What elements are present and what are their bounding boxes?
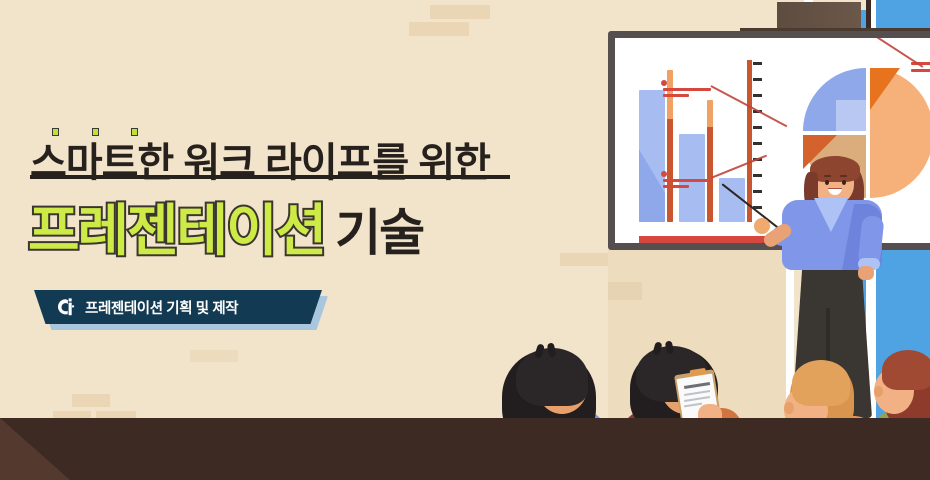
attendee-ear (874, 386, 883, 397)
headline-line-2: 프레젠테이션 기술 (28, 186, 423, 267)
presenter-brow-right (840, 175, 847, 177)
red-banner (639, 236, 779, 243)
callout-bar-top-2 (663, 94, 689, 97)
ruler-tick (753, 62, 762, 65)
ruler-tick (753, 142, 762, 145)
presenter-brow-left (824, 175, 831, 177)
callout-dot-top (661, 80, 667, 86)
callout-bar-bot-2 (663, 185, 689, 188)
floor-wedge (0, 418, 70, 480)
bar-1 (639, 90, 665, 222)
callout-line-right (874, 38, 924, 67)
pie-slice-blue-light (836, 100, 866, 131)
headline-tail: 기술 (335, 193, 423, 265)
ceiling-beam (777, 2, 861, 28)
attendee-hair-top (792, 360, 850, 406)
ruler-tick (753, 190, 762, 193)
bar-1-shade (639, 90, 665, 222)
badge-label: 프레젠테이션 기획 및 제작 (85, 297, 238, 318)
ruler-tick (753, 78, 762, 81)
presenter-eye-left (825, 180, 829, 185)
attendee-hair-top (882, 350, 930, 390)
headline-highlight: 프레젠테이션 (28, 186, 325, 267)
decor-rect-6 (190, 350, 238, 362)
bar-2 (679, 134, 705, 222)
decor-rect-3 (72, 394, 110, 407)
hero-banner: 스마트한 워크 라이프를 위한 프레젠테이션 기술 프레젠테이션 기획 및 제작 (0, 0, 930, 480)
callout-bar-bot-1 (663, 179, 711, 182)
wall-panel-shade (608, 282, 642, 300)
marker-bar-2 (707, 100, 713, 222)
ruler-tick (753, 174, 762, 177)
headline-underline (30, 175, 510, 179)
ceiling-pole (866, 0, 871, 30)
decor-rect-7 (560, 253, 612, 266)
callout-bar-right-2 (911, 69, 930, 72)
decor-rect-1 (430, 5, 490, 19)
headline-line-1: 스마트한 워크 라이프를 위한 (30, 130, 490, 188)
callout-bar-top-1 (663, 88, 711, 91)
floor (0, 418, 930, 480)
ruler-tick (753, 126, 762, 129)
presenter-eye-right (842, 180, 846, 185)
marker-bar-1-shade (667, 119, 673, 222)
ruler-tick (753, 94, 762, 97)
attendee-ear (784, 402, 794, 414)
presenter-hand-pointing (754, 218, 770, 234)
chart-ruler (747, 60, 752, 222)
marker-bar-2-shade (707, 127, 713, 222)
decor-rect-2 (409, 22, 469, 36)
callout-dot-bottom (661, 171, 667, 177)
marker-bar-1 (667, 70, 673, 222)
presenter-person-icon (56, 297, 76, 317)
presenter-hand-hip (858, 266, 874, 280)
subtitle-badge[interactable]: 프레젠테이션 기획 및 제작 (34, 290, 322, 324)
